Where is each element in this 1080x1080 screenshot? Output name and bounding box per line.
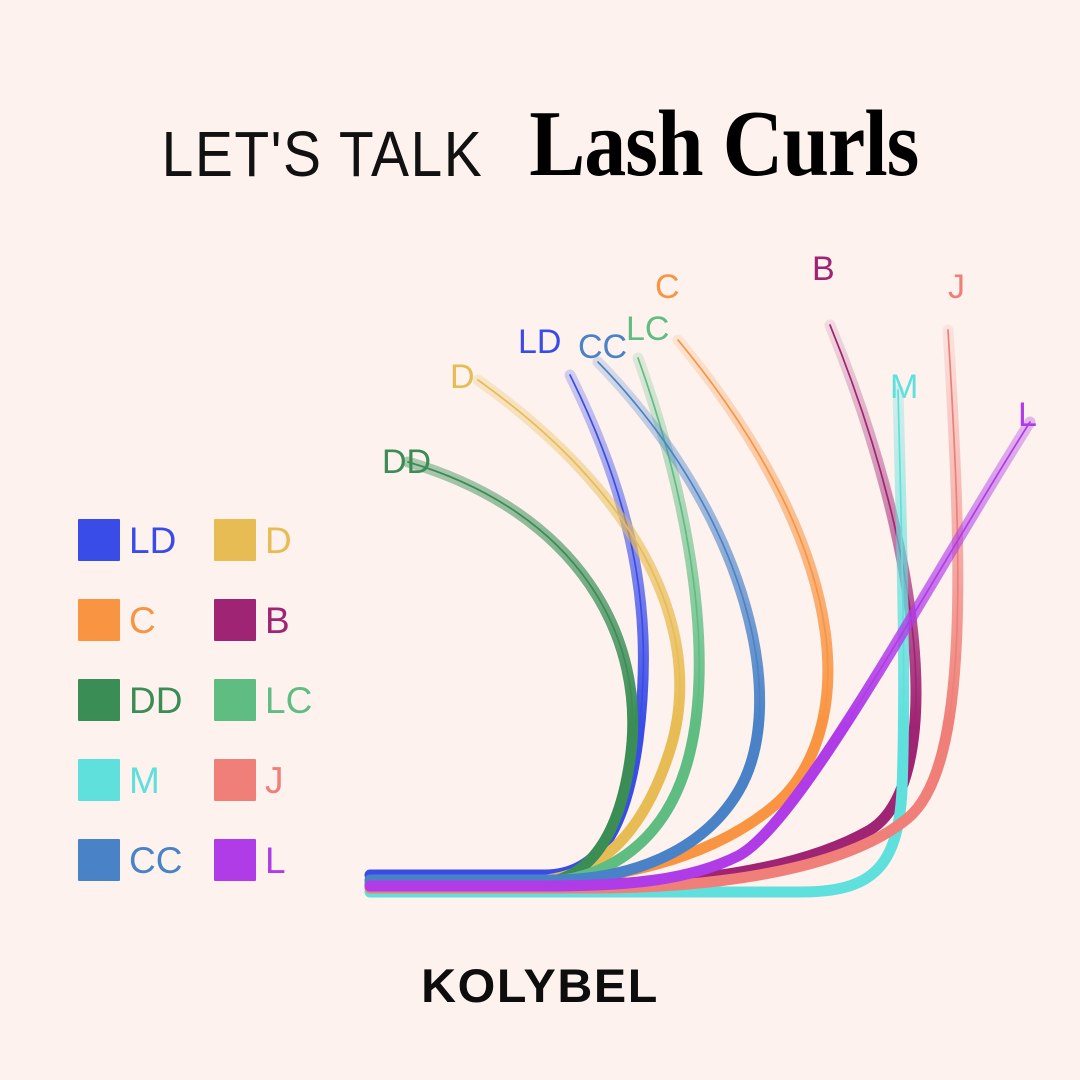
curve-label-d: D (450, 358, 475, 396)
curve-label-l: L (1018, 396, 1037, 434)
curve-c (370, 340, 828, 882)
legend-swatch-dd (78, 679, 120, 721)
legend-swatch-c (78, 599, 120, 641)
brand-wordmark: KOLYBEL (0, 958, 1080, 1013)
legend-label: L (265, 842, 286, 879)
curve-label-j: J (948, 268, 965, 306)
legend-item-cc[interactable]: CC (78, 839, 214, 881)
legend-swatch-ld (78, 519, 120, 561)
legend-label: DD (129, 682, 182, 719)
legend-label: C (129, 602, 156, 639)
title-main: Lash Curls (529, 98, 918, 192)
legend-item-dd[interactable]: DD (78, 679, 214, 721)
legend-item-m[interactable]: M (78, 759, 214, 801)
curve-dd-tip (370, 462, 633, 883)
curve-c-tip (370, 340, 828, 882)
legend: LDDCBDDLCMJCCL (78, 500, 348, 900)
page-title: LET'S TALK Lash Curls (0, 108, 1080, 208)
curve-dd (370, 462, 633, 883)
legend-item-c[interactable]: C (78, 599, 214, 641)
curve-label-lc: LC (626, 310, 669, 348)
legend-label: LD (129, 522, 176, 559)
curve-group (370, 325, 1030, 892)
legend-label: CC (129, 842, 182, 879)
legend-label: D (265, 522, 292, 559)
legend-swatch-lc (214, 679, 256, 721)
title-prefix: LET'S TALK (162, 123, 484, 187)
curve-label-group: LDDCBDDLCMJCCL (382, 250, 1037, 481)
curve-label-dd: DD (382, 443, 431, 481)
legend-label: LC (265, 682, 312, 719)
curve-label-b: B (812, 250, 835, 288)
curve-label-ld: LD (518, 323, 561, 361)
legend-item-ld[interactable]: LD (78, 519, 214, 561)
curve-label-cc: CC (578, 328, 627, 366)
lash-curl-chart: LDDCBDDLCMJCCL (330, 230, 1070, 920)
legend-swatch-d (214, 519, 256, 561)
legend-swatch-b (214, 599, 256, 641)
legend-label: J (265, 762, 284, 799)
legend-swatch-j (214, 759, 256, 801)
curve-label-c: C (655, 268, 680, 306)
legend-label: M (129, 762, 160, 799)
legend-swatch-m (78, 759, 120, 801)
legend-swatch-l (214, 839, 256, 881)
curve-label-m: M (890, 368, 918, 406)
legend-label: B (265, 602, 290, 639)
poster-canvas: LET'S TALK Lash Curls LDDCBDDLCMJCCL LDD… (0, 0, 1080, 1080)
legend-swatch-cc (78, 839, 120, 881)
